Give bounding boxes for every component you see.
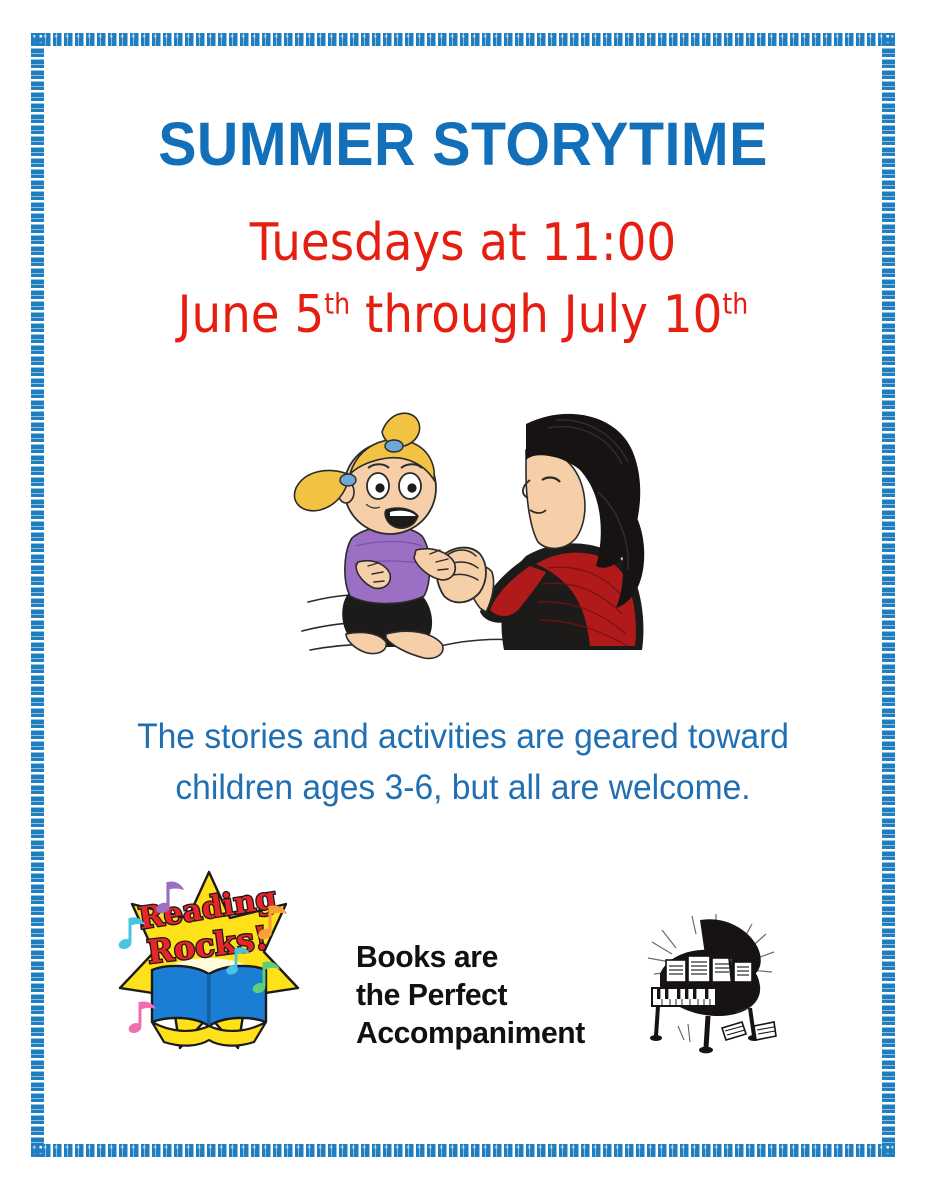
description-line-1: The stories and activities are geared to… — [86, 712, 841, 763]
flyer-content: SUMMER STORYTIME Tuesdays at 11:00 June … — [44, 46, 882, 1144]
description-line-2: children ages 3-6, but all are welcome. — [86, 763, 841, 814]
border-left-icon — [31, 33, 44, 1157]
accompaniment-line-1: Books are — [356, 938, 585, 976]
border-bottom-icon — [31, 1144, 895, 1157]
logo-row: Reading Rocks! — [44, 846, 882, 1076]
description-text: The stories and activities are geared to… — [86, 712, 841, 814]
storytime-flyer: SUMMER STORYTIME Tuesdays at 11:00 June … — [0, 0, 927, 1200]
page-title: SUMMER STORYTIME — [69, 114, 857, 175]
border-right-icon — [882, 33, 895, 1157]
schedule-start-date: June 5 — [178, 285, 325, 345]
schedule-line-range: June 5th through July 10th — [86, 280, 840, 352]
schedule-block: Tuesdays at 11:00 June 5th through July … — [86, 208, 840, 352]
schedule-start-ordinal: th — [324, 287, 350, 320]
schedule-line-time: Tuesdays at 11:00 — [86, 208, 840, 280]
accompaniment-line-3: Accompaniment — [356, 1014, 585, 1052]
grand-piano-icon — [632, 908, 784, 1056]
border-top-icon — [31, 33, 895, 46]
schedule-end-ordinal: th — [722, 287, 748, 320]
storytime-illustration — [290, 388, 650, 678]
reading-rocks-logo: Reading Rocks! — [114, 856, 304, 1061]
schedule-range-connector: through July 10 — [350, 285, 722, 345]
accompaniment-slogan: Books are the Perfect Accompaniment — [356, 938, 585, 1051]
accompaniment-line-2: the Perfect — [356, 976, 585, 1014]
